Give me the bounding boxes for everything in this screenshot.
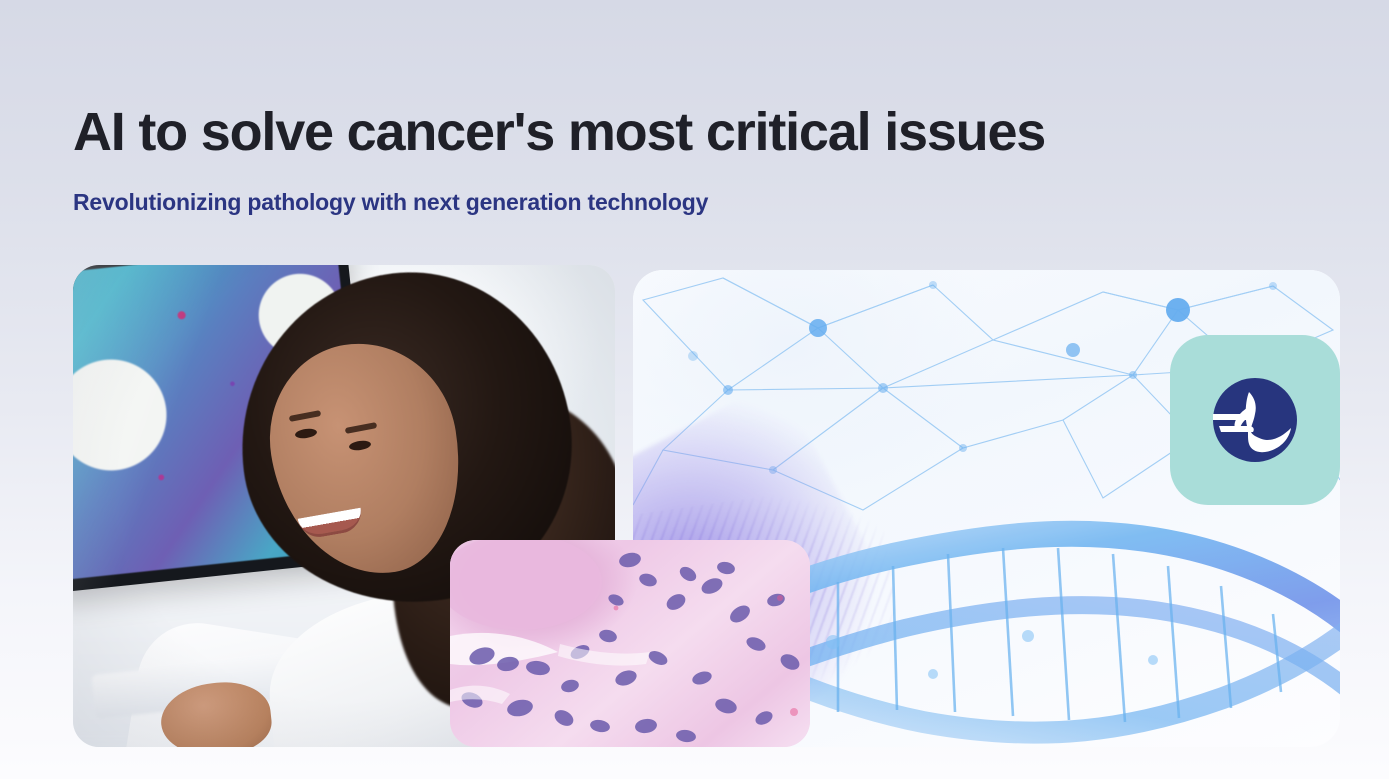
hero-text-block: AI to solve cancer's most critical issue…: [73, 104, 1273, 216]
histology-slide-tile: [450, 540, 810, 747]
page-subtitle: Revolutionizing pathology with next gene…: [73, 189, 1273, 217]
logo-tile[interactable]: [1170, 335, 1340, 505]
histology-nuclei-graphic: [450, 540, 810, 747]
company-logo-icon: [1205, 370, 1305, 470]
page-title: AI to solve cancer's most critical issue…: [73, 104, 1273, 161]
